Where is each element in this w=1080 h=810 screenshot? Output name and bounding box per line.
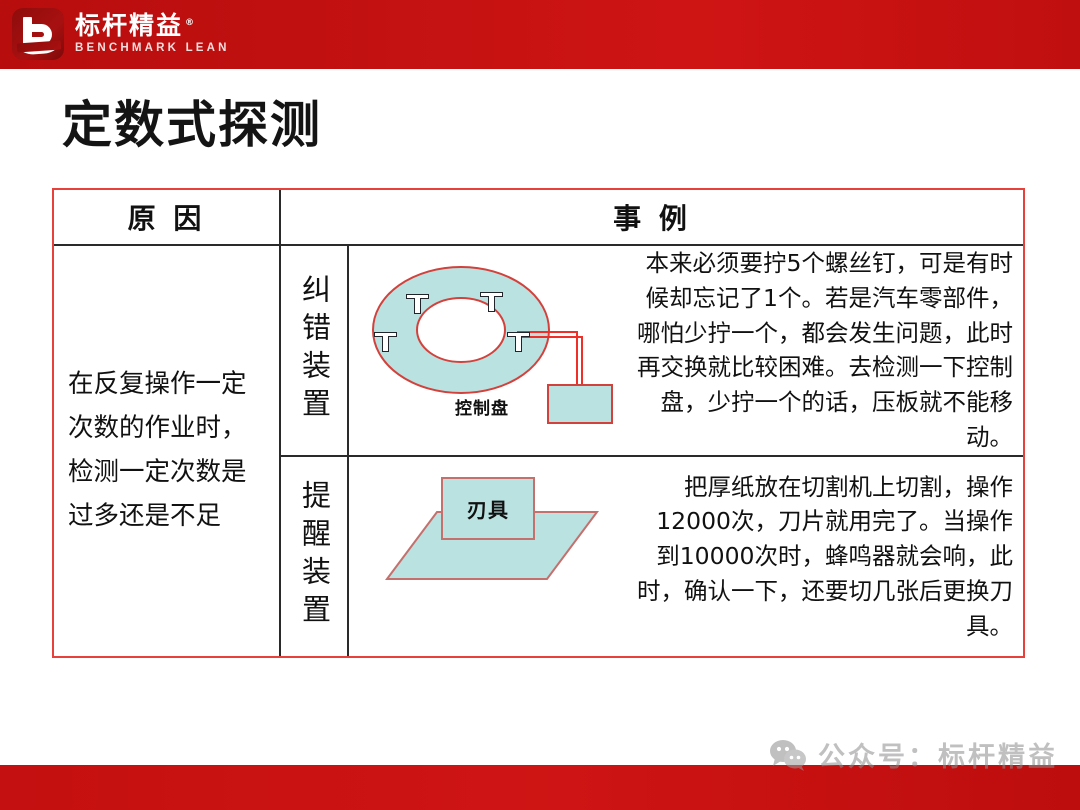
comparison-table: 原 因 事 例 在反复操作一定次数的作业时，检测一定次数是过多还是不足 纠错装置 (52, 188, 1025, 658)
device-label-cell-2: 提醒装置 (281, 457, 349, 656)
screw-icon (406, 294, 429, 314)
control-disc-caption: 控制盘 (407, 394, 557, 419)
device-label-cell-1: 纠错装置 (281, 246, 349, 455)
description-text-2: 把厚纸放在切割机上切割，操作12000次，刀片就用完了。当操作到10000次时，… (633, 470, 1013, 644)
logo-chinese-name: 标杆精益® (75, 13, 196, 38)
device-label-2: 提醒装置 (300, 480, 329, 632)
description-cell-2: 把厚纸放在切割机上切割，操作12000次，刀片就用完了。当操作到10000次时，… (629, 457, 1023, 656)
screw-icon (480, 292, 503, 312)
cause-text: 在反复操作一定次数的作业时，检测一定次数是过多还是不足 (68, 363, 264, 538)
logo-chinese-label: 标杆精益 (75, 11, 183, 40)
screw-icon (374, 332, 397, 352)
table-header-cause-label: 原 因 (128, 197, 206, 237)
brand-logo: 标杆精益® BENCHMARK LEAN (12, 8, 230, 60)
case-rows: 纠错装置 (281, 246, 1023, 656)
description-cell-1: 本来必须要拧5个螺丝钉，可是有时候却忘记了1个。若是汽车零部件，哪怕少拧一个，都… (629, 246, 1023, 455)
benchmark-lean-logo-icon (12, 8, 64, 60)
table-row: 提醒装置 刃具 把厚纸放在切割机上切割，操作12000次，刀片就用完了。当操作到… (281, 457, 1023, 656)
wechat-icon (768, 738, 808, 772)
figure-cell-2: 刃具 (349, 457, 629, 656)
table-row: 纠错装置 (281, 246, 1023, 457)
table-body: 在反复操作一定次数的作业时，检测一定次数是过多还是不足 纠错装置 (54, 246, 1023, 656)
table-header-case: 事 例 (281, 190, 1023, 244)
logo-text-block: 标杆精益® BENCHMARK LEAN (75, 13, 230, 55)
top-header-band: 标杆精益® BENCHMARK LEAN (0, 0, 1080, 69)
page-title: 定数式探测 (62, 98, 322, 153)
description-text-1: 本来必须要拧5个螺丝钉，可是有时候却忘记了1个。若是汽车零部件，哪怕少拧一个，都… (633, 246, 1013, 455)
blade-on-sheet-figure: 刃具 (349, 457, 629, 656)
blade-box: 刃具 (441, 477, 535, 540)
table-header-row: 原 因 事 例 (54, 190, 1023, 246)
watermark: 公众号：标杆精益 (768, 735, 1058, 774)
blade-caption: 刃具 (467, 494, 509, 523)
screw-icon (507, 332, 530, 352)
logo-english-name: BENCHMARK LEAN (75, 43, 230, 55)
device-label-1: 纠错装置 (300, 274, 329, 426)
control-disc-figure: 控制盘 (349, 246, 629, 455)
cause-cell: 在反复操作一定次数的作业时，检测一定次数是过多还是不足 (54, 246, 281, 656)
figure-cell-1: 控制盘 (349, 246, 629, 455)
table-header-cause: 原 因 (54, 190, 281, 244)
watermark-text: 公众号：标杆精益 (818, 735, 1058, 774)
registered-trademark-icon: ® (185, 18, 196, 28)
table-header-case-label: 事 例 (613, 197, 691, 237)
